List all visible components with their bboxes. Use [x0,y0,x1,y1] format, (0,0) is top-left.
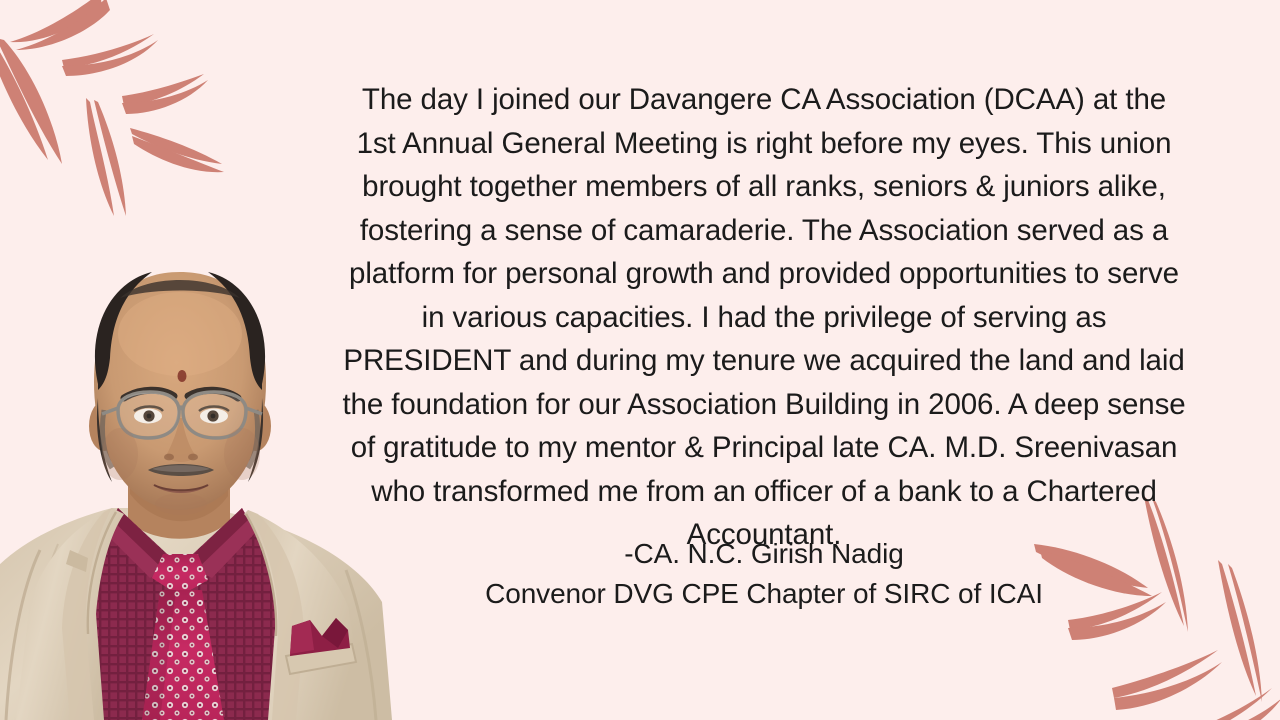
leaf-cluster-icon-top-left [0,0,262,218]
attribution-block: -CA. N.C. Girish Nadig Convenor DVG CPE … [340,534,1188,614]
leaf-cluster-icon [0,0,262,218]
quote-block: The day I joined our Davangere CA Associ… [340,78,1188,557]
attribution-role: Convenor DVG CPE Chapter of SIRC of ICAI [340,574,1188,614]
quote-text: The day I joined our Davangere CA Associ… [340,78,1188,557]
attribution-name: -CA. N.C. Girish Nadig [340,534,1188,574]
testimonial-card: The day I joined our Davangere CA Associ… [0,0,1280,720]
